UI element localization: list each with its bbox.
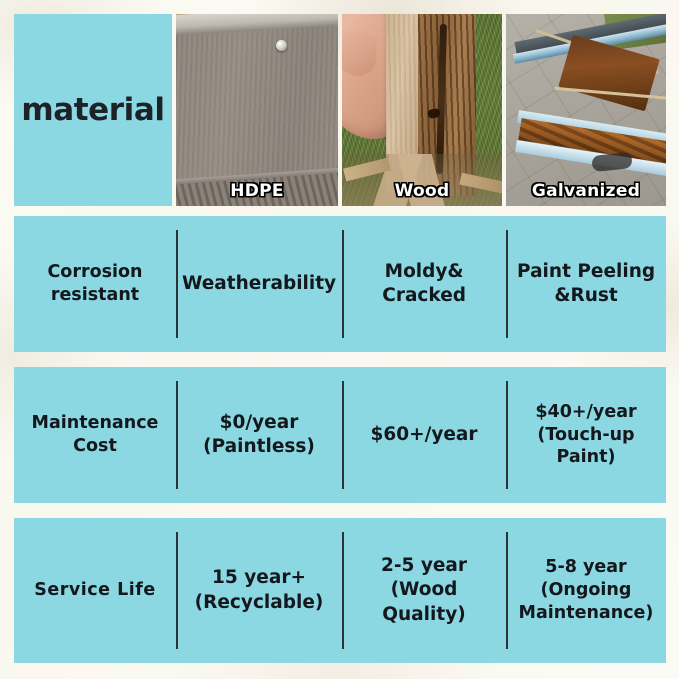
cell-corrosion-galvanized: Paint Peeling&Rust [506,216,666,352]
thumb [342,30,376,76]
material-comparison-infographic: material HDPE [0,0,679,679]
screw-head-icon [276,40,287,51]
cell-corrosion-wood: Moldy&Cracked [342,216,506,352]
photo-cell-hdpe: HDPE [176,14,338,206]
comparison-row-maintenance-cost: MaintenanceCost $0/year(Paintless) $60+/… [14,367,666,503]
row-label-maintenance-cost: MaintenanceCost [14,367,176,503]
rusted-galvanized-steel-photo [506,14,666,206]
header-row: material HDPE [14,14,666,206]
photo-cell-wood: Wood [342,14,502,206]
photo-caption-hdpe: HDPE [176,181,338,201]
row-label-corrosion-resistant: Corrosionresistant [14,216,176,352]
cell-life-wood: 2-5 year(Wood Quality) [342,518,506,663]
cell-cost-galvanized: $40+/year(Touch-up Paint) [506,367,666,503]
hdpe-decking-board-photo [176,14,338,206]
cell-cost-wood: $60+/year [342,367,506,503]
material-title-cell: material [14,14,172,206]
hdpe-board-top-edge [176,14,338,35]
cell-corrosion-hdpe: Weatherability [176,216,342,352]
cell-life-hdpe: 15 year+(Recyclable) [176,518,342,663]
page-title: material [21,92,164,128]
cell-life-galvanized: 5-8 year(OngoingMaintenance) [506,518,666,663]
comparison-row-corrosion-resistant: Corrosionresistant Weatherability Moldy&… [14,216,666,352]
photo-cell-galvanized: Galvanized [506,14,666,206]
photo-caption-galvanized: Galvanized [506,181,666,201]
comparison-row-service-life: Service Life 15 year+(Recyclable) 2-5 ye… [14,518,666,663]
rotted-wood-post-photo [342,14,502,206]
rusted-steel-bar [558,35,659,112]
row-label-service-life: Service Life [14,518,176,663]
cell-cost-hdpe: $0/year(Paintless) [176,367,342,503]
photo-caption-wood: Wood [342,181,502,201]
